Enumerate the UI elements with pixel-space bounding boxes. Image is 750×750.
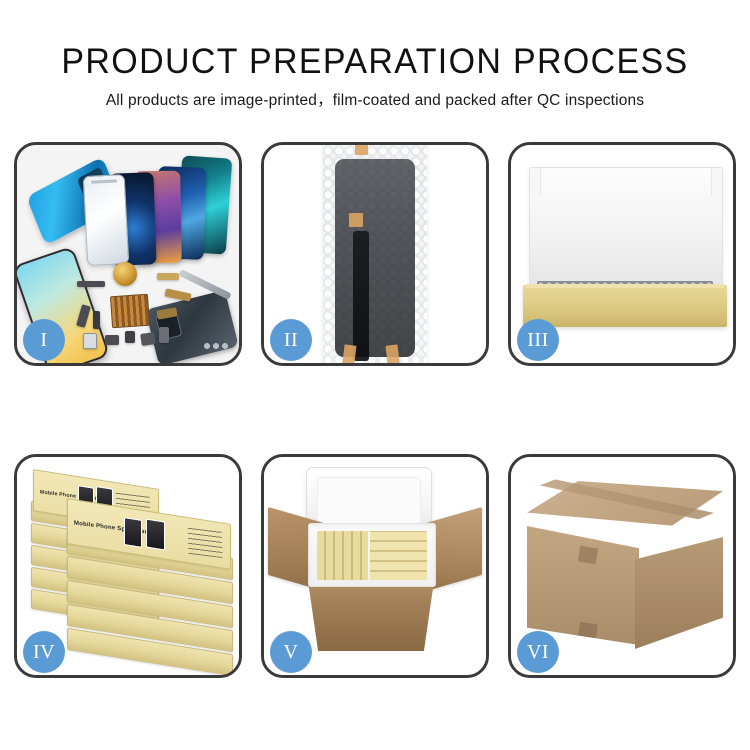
step-badge-6: VI [517, 631, 559, 673]
tempered-glass-protector-icon [83, 174, 130, 266]
flex-cable-icon [353, 231, 369, 361]
sealed-shipping-carton-icon [527, 481, 723, 653]
spare-part-icon [105, 335, 119, 345]
yellow-tray-base-icon [523, 285, 727, 327]
screws-icon [203, 341, 229, 351]
carton-body-icon [308, 581, 434, 651]
lcd-screen-icon [335, 159, 415, 357]
retail-box-stack-icon: Mobile Phone Spare Parts Mobile Phone Sp… [31, 477, 231, 663]
process-step-card-1[interactable]: I [14, 142, 242, 366]
speaker-module-icon [113, 262, 137, 286]
step-badge-2: II [270, 319, 312, 361]
process-steps-grid: I II III [14, 142, 736, 678]
process-step-card-5[interactable]: V [261, 454, 489, 678]
carton-tab-icon [578, 622, 598, 639]
box-spec-text-icon [188, 526, 223, 558]
spare-part-icon [140, 332, 156, 346]
carton-side-face [635, 537, 723, 649]
spare-part-icon [125, 331, 135, 343]
foam-lid-icon [529, 167, 723, 293]
spare-part-icon [164, 288, 191, 301]
box-product-photo-icon [146, 519, 165, 551]
spare-part-icon [159, 327, 169, 343]
page-header: PRODUCT PREPARATION PROCESS All products… [0, 0, 750, 109]
bubble-wrap-bag-icon [323, 145, 427, 363]
tape-icon [341, 344, 356, 363]
step-badge-1: I [23, 319, 65, 361]
step-badge-3: III [517, 319, 559, 361]
packed-gold-boxes-icon [317, 531, 427, 580]
carton-tab-icon [578, 546, 598, 565]
step-badge-5: V [270, 631, 312, 673]
process-step-card-4[interactable]: Mobile Phone Spare Parts Mobile Phone Sp… [14, 454, 242, 678]
process-step-card-3[interactable]: III [508, 142, 736, 366]
step-badge-4: IV [23, 631, 65, 673]
spare-part-icon [93, 311, 100, 329]
page-subtitle: All products are image-printed，film-coat… [0, 79, 750, 109]
logic-board-chip-icon [110, 294, 150, 329]
process-step-card-6[interactable]: VI [508, 454, 736, 678]
spare-part-icon [83, 333, 97, 349]
box-product-photo-icon [124, 517, 142, 548]
process-step-card-2[interactable]: II [261, 142, 489, 366]
foam-box-icon [308, 523, 436, 587]
page-title: PRODUCT PREPARATION PROCESS [11, 0, 739, 79]
spare-part-icon [77, 281, 105, 287]
tape-icon [349, 213, 363, 227]
spare-part-icon [157, 273, 179, 280]
tape-icon [355, 145, 368, 155]
